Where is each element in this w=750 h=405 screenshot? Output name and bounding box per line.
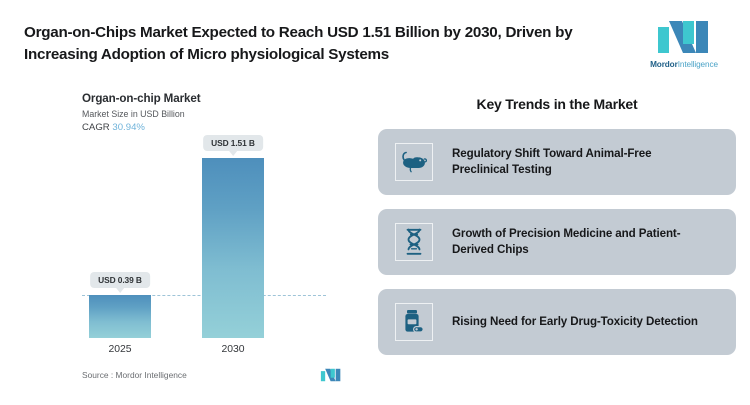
logo-word-secondary: Intelligence (678, 60, 718, 69)
trend-card-drug-toxicity[interactable]: Rising Need for Early Drug-Toxicity Dete… (378, 289, 736, 355)
bar-group-2030: USD 1.51 B (202, 158, 264, 338)
bar-value-label-2025: USD 0.39 B (90, 272, 150, 288)
source-logo-icon (320, 368, 342, 382)
header: Organ-on-Chips Market Expected to Reach … (0, 0, 750, 88)
x-tick-2030: 2030 (202, 344, 264, 355)
x-axis-labels: 2025 2030 (62, 344, 362, 360)
trend-label: Regulatory Shift Toward Animal-Free Prec… (452, 146, 707, 177)
chart-subtitle: Market Size in USD Billion (82, 109, 362, 119)
x-tick-2025: 2025 (89, 344, 151, 355)
page-title: Organ-on-Chips Market Expected to Reach … (24, 22, 624, 65)
chart-cagr: CAGR 30.94% (82, 122, 362, 133)
trend-icon-frame (395, 143, 433, 181)
dna-helix-icon (404, 228, 424, 256)
trend-card-regulatory-shift[interactable]: Regulatory Shift Toward Animal-Free Prec… (378, 129, 736, 195)
brand-logo: MordorIntelligence (636, 19, 732, 69)
bar-value-label-2030: USD 1.51 B (203, 135, 263, 151)
bar-chart-plot: USD 0.39 B USD 1.51 B (62, 158, 362, 338)
trend-icon-frame (395, 223, 433, 261)
trend-label: Growth of Precision Medicine and Patient… (452, 226, 707, 257)
key-trends-panel: Key Trends in the Market Regulatory Shif… (378, 96, 736, 369)
trend-card-precision-medicine[interactable]: Growth of Precision Medicine and Patient… (378, 209, 736, 275)
source-label: Source : Mordor Intelligence (82, 370, 187, 380)
cagr-value: 30.94% (112, 122, 145, 133)
chart-source-row: Source : Mordor Intelligence (82, 368, 342, 382)
pill-bottle-icon (402, 309, 426, 335)
chart-title: Organ-on-chip Market (82, 92, 362, 105)
logo-wordmark: MordorIntelligence (650, 60, 718, 69)
bar-group-2025: USD 0.39 B (89, 295, 151, 338)
mouse-icon (401, 151, 427, 173)
cagr-label: CAGR (82, 122, 110, 133)
logo-word-primary: Mordor (650, 60, 678, 69)
chart-panel: Organ-on-chip Market Market Size in USD … (62, 92, 362, 392)
bar-2025[interactable] (89, 295, 151, 338)
key-trends-heading: Key Trends in the Market (378, 96, 736, 112)
bar-2030[interactable] (202, 158, 264, 338)
infographic-page: Organ-on-Chips Market Expected to Reach … (0, 0, 750, 405)
mordor-logo-mark (656, 19, 712, 55)
trend-icon-frame (395, 303, 433, 341)
trend-label: Rising Need for Early Drug-Toxicity Dete… (452, 314, 698, 330)
